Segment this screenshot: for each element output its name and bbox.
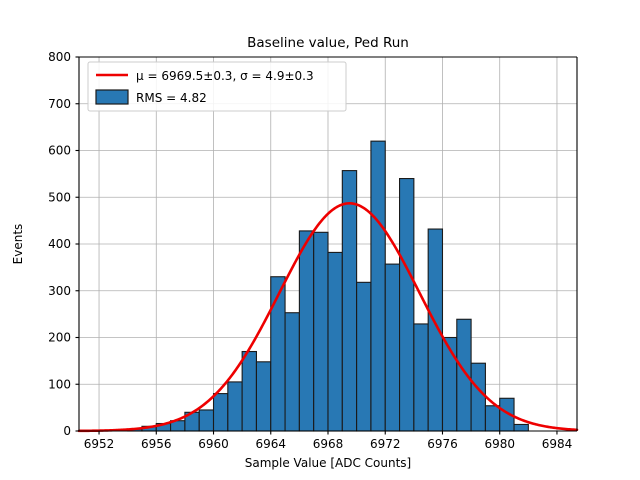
histogram-bar xyxy=(199,410,213,431)
histogram-bar xyxy=(228,382,242,431)
histogram-chart: 695269566960696469686972697669806984 010… xyxy=(0,0,640,480)
x-tick-label: 6960 xyxy=(198,437,229,451)
x-tick-label: 6952 xyxy=(84,437,115,451)
histogram-bar xyxy=(342,171,356,431)
x-tick-label: 6972 xyxy=(370,437,401,451)
legend-label-gaussian: μ = 6969.5±0.3, σ = 4.9±0.3 xyxy=(136,69,314,83)
y-tick-label: 600 xyxy=(48,144,71,158)
histogram-bar xyxy=(328,252,342,431)
x-tick-label: 6968 xyxy=(313,437,344,451)
y-tick-label: 100 xyxy=(48,377,71,391)
x-tick-label: 6980 xyxy=(484,437,515,451)
y-tick-label: 700 xyxy=(48,97,71,111)
y-tick-label: 200 xyxy=(48,331,71,345)
histogram-bar xyxy=(214,394,228,431)
y-tick-labels: 0100200300400500600700800 xyxy=(48,50,71,438)
histogram-bar xyxy=(271,277,285,431)
histogram-bar xyxy=(485,406,499,431)
histogram-bar xyxy=(256,362,270,431)
x-axis-label: Sample Value [ADC Counts] xyxy=(245,456,411,470)
y-tick-label: 400 xyxy=(48,237,71,251)
legend-patch-swatch xyxy=(96,90,128,104)
y-tick-label: 800 xyxy=(48,50,71,64)
histogram-bar xyxy=(285,313,299,431)
histogram-bar xyxy=(514,424,528,431)
histogram-bar xyxy=(357,282,371,431)
y-tick-label: 300 xyxy=(48,284,71,298)
x-tick-labels: 695269566960696469686972697669806984 xyxy=(84,437,572,451)
histogram-bar xyxy=(457,319,471,431)
histogram-bar xyxy=(385,264,399,431)
histogram-bar xyxy=(471,363,485,431)
histogram-bar xyxy=(414,324,428,431)
x-tick-label: 6964 xyxy=(255,437,286,451)
histogram-bar xyxy=(314,232,328,431)
histogram-bar xyxy=(242,352,256,431)
histogram-bar xyxy=(442,338,456,432)
y-tick-label: 0 xyxy=(63,424,71,438)
x-tick-label: 6956 xyxy=(141,437,172,451)
legend-entry-rms: RMS = 4.82 xyxy=(96,90,207,105)
x-tick-label: 6984 xyxy=(542,437,573,451)
y-tick-label: 500 xyxy=(48,190,71,204)
x-tick-label: 6976 xyxy=(427,437,458,451)
figure-canvas: 695269566960696469686972697669806984 010… xyxy=(0,0,640,480)
histogram-bar xyxy=(400,179,414,431)
legend: μ = 6969.5±0.3, σ = 4.9±0.3 RMS = 4.82 xyxy=(88,62,346,111)
legend-label-rms: RMS = 4.82 xyxy=(136,91,207,105)
histogram-bar xyxy=(299,231,313,431)
chart-title: Baseline value, Ped Run xyxy=(247,35,409,51)
y-axis-label: Events xyxy=(11,224,25,265)
histogram-bar xyxy=(371,141,385,431)
